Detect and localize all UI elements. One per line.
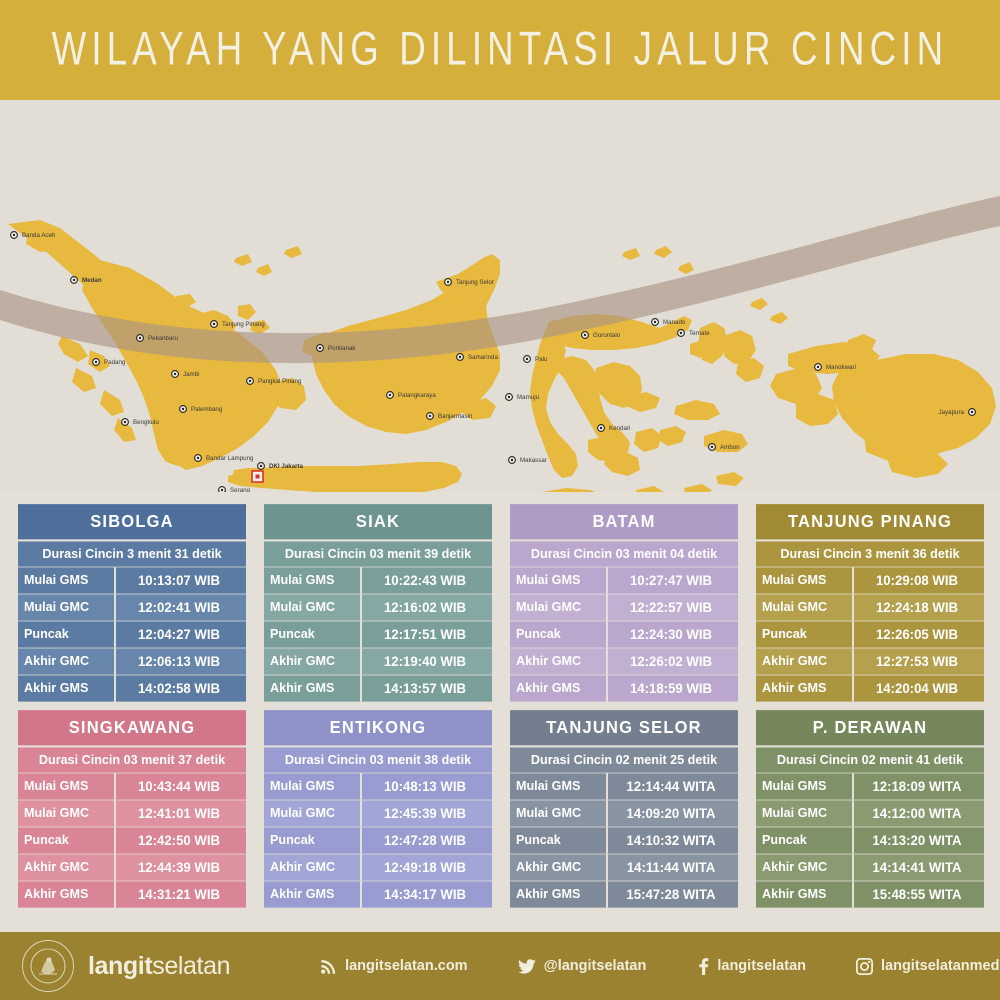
card-row-value: 12:18:09 WITA [854,773,984,799]
city-marker: Ternate [678,330,711,338]
card-row: Akhir GMS14:34:17 WIB [264,880,492,907]
infographic-page: WILAYAH YANG DILINTASI JALUR CINCIN [0,0,1000,1000]
card-row-value: 10:43:44 WIB [116,773,246,799]
footer-brand: langitselatan [22,940,230,992]
card-row-label: Akhir GMC [264,854,362,880]
card-title: SIAK [264,504,492,541]
card-row-value: 14:11:44 WITA [608,854,738,880]
card-duration: Durasi Cincin 03 menit 04 detik [510,539,738,566]
card-row-value: 10:48:13 WIB [362,773,492,799]
card-row: Mulai GMC14:12:00 WITA [756,799,984,826]
card-row-label: Puncak [264,621,362,647]
city-timing-cards: SIBOLGADurasi Cincin 3 menit 31 detikMul… [0,505,1000,907]
city-dot-center-icon [429,415,431,417]
card-row-label: Akhir GMC [18,854,116,880]
card-title: ENTIKONG [264,710,492,747]
city-label: Kendari [609,425,630,432]
city-marker: Palu [524,356,548,364]
city-label: Bengkulu [133,419,159,426]
card-duration: Durasi Cincin 03 menit 38 detik [264,745,492,772]
city-dot-center-icon [182,408,184,410]
card-row-label: Akhir GMS [18,881,116,907]
card-title: P. DERAWAN [756,710,984,747]
city-marker: Serang [219,487,251,492]
city-label: Manado [663,319,686,326]
card-row: Puncak14:13:20 WITA [756,826,984,853]
city-label: Padang [104,359,126,366]
city-marker: Makassar [509,457,547,465]
card-duration: Durasi Cincin 3 menit 31 detik [18,539,246,566]
card-row: Puncak12:24:30 WIB [510,620,738,647]
footer-wordmark: langitselatan [88,952,230,981]
footer-link-instagram[interactable]: langitselatanmedia [856,958,1000,975]
card-row: Mulai GMS10:48:13 WIB [264,772,492,799]
instagram-label: langitselatanmedia [881,958,1000,974]
card-row: Mulai GMS10:29:08 WIB [756,566,984,593]
brand-light: selatan [152,952,230,980]
card-row: Puncak14:10:32 WITA [510,826,738,853]
card-row-value: 12:06:13 WIB [116,648,246,674]
city-card: SIBOLGADurasi Cincin 3 menit 31 detikMul… [18,505,246,701]
card-row-label: Akhir GMC [264,648,362,674]
card-row-label: Puncak [510,827,608,853]
page-header: WILAYAH YANG DILINTASI JALUR CINCIN [0,0,1000,100]
city-marker: Mamuju [506,394,540,402]
city-label: Tanjung Selor [456,279,494,286]
card-row: Mulai GMC12:45:39 WIB [264,799,492,826]
page-footer: langitselatan langitselatan.com @langits… [0,932,1000,1000]
city-dot-center-icon [508,396,510,398]
card-row-label: Akhir GMC [756,648,854,674]
city-marker: Padang [93,359,126,367]
card-row-label: Akhir GMS [264,881,362,907]
city-dot-center-icon [654,321,656,323]
card-row: Akhir GMS14:31:21 WIB [18,880,246,907]
card-row-value: 12:41:01 WIB [116,800,246,826]
city-marker: Ambon [709,444,741,452]
map-panel: Banda AcehMedanPekanbaruPadangJambiBengk… [0,100,1000,492]
card-row-value: 14:09:20 WITA [608,800,738,826]
footer-link-twitter[interactable]: @langitselatan [518,958,647,974]
card-row-label: Puncak [510,621,608,647]
card-row-label: Puncak [264,827,362,853]
card-row: Mulai GMC12:16:02 WIB [264,593,492,620]
card-row-label: Akhir GMC [510,648,608,674]
card-row-label: Puncak [18,621,116,647]
card-row: Akhir GMC14:11:44 WITA [510,853,738,880]
city-label: Ambon [720,444,740,451]
card-row-value: 14:18:59 WIB [608,675,738,701]
card-row-value: 14:13:57 WIB [362,675,492,701]
card-row-value: 10:29:08 WIB [854,567,984,593]
card-row: Mulai GMS10:43:44 WIB [18,772,246,799]
city-dot-center-icon [459,356,461,358]
card-row: Puncak12:26:05 WIB [756,620,984,647]
card-row: Mulai GMC12:41:01 WIB [18,799,246,826]
city-dot-center-icon [260,465,262,467]
city-marker: Medan [71,277,102,285]
card-row-value: 14:13:20 WITA [854,827,984,853]
city-marker: Kendari [598,425,631,433]
card-row-label: Akhir GMC [756,854,854,880]
city-card: TANJUNG SELORDurasi Cincin 02 menit 25 d… [510,711,738,907]
card-row-label: Mulai GMS [18,773,116,799]
city-card: TANJUNG PINANGDurasi Cincin 3 menit 36 d… [756,505,984,701]
logo-emblem-icon [28,946,68,986]
card-row-label: Puncak [18,827,116,853]
city-card: ENTIKONGDurasi Cincin 03 menit 38 detikM… [264,711,492,907]
card-row-value: 14:10:32 WITA [608,827,738,853]
card-row: Akhir GMC12:26:02 WIB [510,647,738,674]
city-card: SINGKAWANGDurasi Cincin 03 menit 37 deti… [18,711,246,907]
city-label: Pekanbaru [148,335,178,342]
card-row-label: Mulai GMS [264,773,362,799]
card-row-label: Akhir GMC [18,648,116,674]
city-label: Samarinda [468,354,498,361]
city-label: Bandar Lampung [206,455,254,462]
card-duration: Durasi Cincin 02 menit 25 detik [510,745,738,772]
card-row-value: 12:44:39 WIB [116,854,246,880]
city-label: Banda Aceh [22,232,56,239]
card-row-label: Mulai GMC [18,800,116,826]
city-marker: Gorontalo [582,332,621,340]
city-dot-center-icon [511,459,513,461]
card-row-label: Mulai GMC [756,594,854,620]
city-label: Palu [535,356,548,363]
card-row-label: Puncak [756,621,854,647]
city-label: Ternate [689,330,710,337]
card-row-label: Mulai GMC [264,594,362,620]
card-title: SIBOLGA [18,504,246,541]
card-duration: Durasi Cincin 03 menit 39 detik [264,539,492,566]
card-row-label: Mulai GMS [510,773,608,799]
card-row-value: 14:34:17 WIB [362,881,492,907]
city-dot-center-icon [174,373,176,375]
card-row-value: 12:17:51 WIB [362,621,492,647]
card-row: Mulai GMS10:22:43 WIB [264,566,492,593]
card-duration: Durasi Cincin 02 menit 41 detik [756,745,984,772]
card-row: Akhir GMS15:47:28 WITA [510,880,738,907]
city-dot-center-icon [13,234,15,236]
card-row-label: Mulai GMS [18,567,116,593]
city-dot-center-icon [95,361,97,363]
card-row: Mulai GMS10:13:07 WIB [18,566,246,593]
city-label: Banjarmasin [438,413,473,420]
card-row-value: 14:31:21 WIB [116,881,246,907]
rss-icon [320,958,337,975]
city-label: Mamuju [517,394,540,401]
city-dot-center-icon [584,334,586,336]
card-row: Akhir GMS14:20:04 WIB [756,674,984,701]
card-row-value: 12:24:18 WIB [854,594,984,620]
city-dot-center-icon [124,421,126,423]
city-dot-center-icon [526,358,528,360]
card-row-label: Mulai GMS [756,773,854,799]
card-row-value: 12:27:53 WIB [854,648,984,674]
card-row-value: 12:45:39 WIB [362,800,492,826]
city-label: Manokwari [826,364,856,371]
city-marker: Manado [652,319,686,327]
card-row-value: 14:12:00 WITA [854,800,984,826]
city-dot-center-icon [447,281,449,283]
card-row: Mulai GMC12:22:57 WIB [510,593,738,620]
card-row-label: Akhir GMS [510,675,608,701]
card-row: Akhir GMS15:48:55 WITA [756,880,984,907]
website-label: langitselatan.com [345,958,467,974]
page-title: WILAYAH YANG DILINTASI JALUR CINCIN [52,23,949,77]
card-row-value: 14:20:04 WIB [854,675,984,701]
card-row: Akhir GMS14:18:59 WIB [510,674,738,701]
card-row-value: 12:47:28 WIB [362,827,492,853]
card-duration: Durasi Cincin 03 menit 37 detik [18,745,246,772]
card-row-value: 12:02:41 WIB [116,594,246,620]
city-label: Serang [230,487,251,492]
card-row-label: Mulai GMC [510,800,608,826]
city-label: Jambi [183,371,200,378]
card-row-value: 12:14:44 WITA [608,773,738,799]
card-row-label: Mulai GMS [510,567,608,593]
card-row-value: 12:22:57 WIB [608,594,738,620]
card-row-value: 14:14:41 WITA [854,854,984,880]
city-label: Makassar [520,457,547,464]
city-dot-center-icon [73,279,75,281]
card-row: Mulai GMS12:14:44 WITA [510,772,738,799]
city-label: Palembang [191,406,223,413]
facebook-icon [698,958,709,975]
card-title: TANJUNG PINANG [756,504,984,541]
card-row: Akhir GMS14:02:58 WIB [18,674,246,701]
card-row: Akhir GMC12:44:39 WIB [18,853,246,880]
card-title: BATAM [510,504,738,541]
indonesia-map: Banda AcehMedanPekanbaruPadangJambiBengk… [0,100,1000,492]
card-row-value: 12:49:18 WIB [362,854,492,880]
city-label: Pangkal Pinang [258,378,302,385]
card-row-value: 12:26:02 WIB [608,648,738,674]
card-row: Mulai GMC12:02:41 WIB [18,593,246,620]
card-row-label: Akhir GMS [756,881,854,907]
card-row-value: 14:02:58 WIB [116,675,246,701]
city-dot-center-icon [711,446,713,448]
city-card: SIAKDurasi Cincin 03 menit 39 detikMulai… [264,505,492,701]
langitselatan-logo-icon [22,940,74,992]
card-row-label: Puncak [756,827,854,853]
twitter-icon [518,959,536,974]
card-row-value: 15:48:55 WITA [854,881,984,907]
city-dot-center-icon [139,337,141,339]
city-dot-center-icon [680,332,682,334]
card-row-label: Mulai GMS [264,567,362,593]
capital-marker-jakarta [252,471,263,482]
city-label: Palangkaraya [398,392,436,399]
city-dot-center-icon [249,380,251,382]
card-row-label: Mulai GMC [510,594,608,620]
card-row-label: Akhir GMS [756,675,854,701]
city-dot-center-icon [600,427,602,429]
card-row-label: Mulai GMC [756,800,854,826]
footer-link-website[interactable]: langitselatan.com [320,958,467,975]
card-row-label: Akhir GMS [264,675,362,701]
city-label: DKI Jakarta [269,463,304,470]
card-row-label: Mulai GMC [18,594,116,620]
card-row-value: 12:04:27 WIB [116,621,246,647]
card-row: Mulai GMS10:27:47 WIB [510,566,738,593]
city-dot-center-icon [817,366,819,368]
brand-bold: langit [88,952,152,980]
twitter-label: @langitselatan [544,958,647,974]
city-marker: Bengkulu [122,419,160,427]
card-row: Puncak12:04:27 WIB [18,620,246,647]
card-row-label: Akhir GMS [18,675,116,701]
card-row: Akhir GMC14:14:41 WITA [756,853,984,880]
card-row-label: Akhir GMC [510,854,608,880]
city-label: Medan [82,277,102,284]
city-dot-center-icon [319,347,321,349]
footer-link-facebook[interactable]: langitselatan [698,958,806,975]
city-dot-center-icon [197,457,199,459]
card-row-value: 15:47:28 WITA [608,881,738,907]
card-row-label: Mulai GMS [756,567,854,593]
city-marker: Jambi [172,371,200,379]
instagram-icon [856,958,873,975]
card-row: Akhir GMC12:19:40 WIB [264,647,492,674]
city-label: Tanjung Pinang [222,321,265,328]
card-row: Akhir GMC12:27:53 WIB [756,647,984,674]
card-row-value: 10:27:47 WIB [608,567,738,593]
card-row-value: 12:26:05 WIB [854,621,984,647]
city-label: Pontianak [328,345,356,352]
card-row-label: Mulai GMC [264,800,362,826]
card-row-label: Akhir GMS [510,881,608,907]
city-marker: Jayapura [939,409,976,417]
card-row-value: 10:22:43 WIB [362,567,492,593]
card-row: Puncak12:42:50 WIB [18,826,246,853]
card-row-value: 12:42:50 WIB [116,827,246,853]
city-dot-center-icon [221,489,223,491]
card-row: Puncak12:47:28 WIB [264,826,492,853]
card-duration: Durasi Cincin 3 menit 36 detik [756,539,984,566]
city-label: Jayapura [939,409,965,416]
card-row-value: 12:19:40 WIB [362,648,492,674]
facebook-label: langitselatan [717,958,806,974]
card-row-value: 12:24:30 WIB [608,621,738,647]
card-row: Mulai GMS12:18:09 WITA [756,772,984,799]
city-dot-center-icon [213,323,215,325]
card-title: SINGKAWANG [18,710,246,747]
card-row-value: 10:13:07 WIB [116,567,246,593]
city-card: BATAMDurasi Cincin 03 menit 04 detikMula… [510,505,738,701]
city-dot-center-icon [971,411,973,413]
card-row: Mulai GMC12:24:18 WIB [756,593,984,620]
card-row: Puncak12:17:51 WIB [264,620,492,647]
city-card: P. DERAWANDurasi Cincin 02 menit 41 deti… [756,711,984,907]
card-row: Akhir GMC12:06:13 WIB [18,647,246,674]
card-title: TANJUNG SELOR [510,710,738,747]
card-row: Akhir GMC12:49:18 WIB [264,853,492,880]
card-row: Akhir GMS14:13:57 WIB [264,674,492,701]
city-label: Gorontalo [593,332,621,339]
city-dot-center-icon [389,394,391,396]
card-row: Mulai GMC14:09:20 WITA [510,799,738,826]
card-row-value: 12:16:02 WIB [362,594,492,620]
